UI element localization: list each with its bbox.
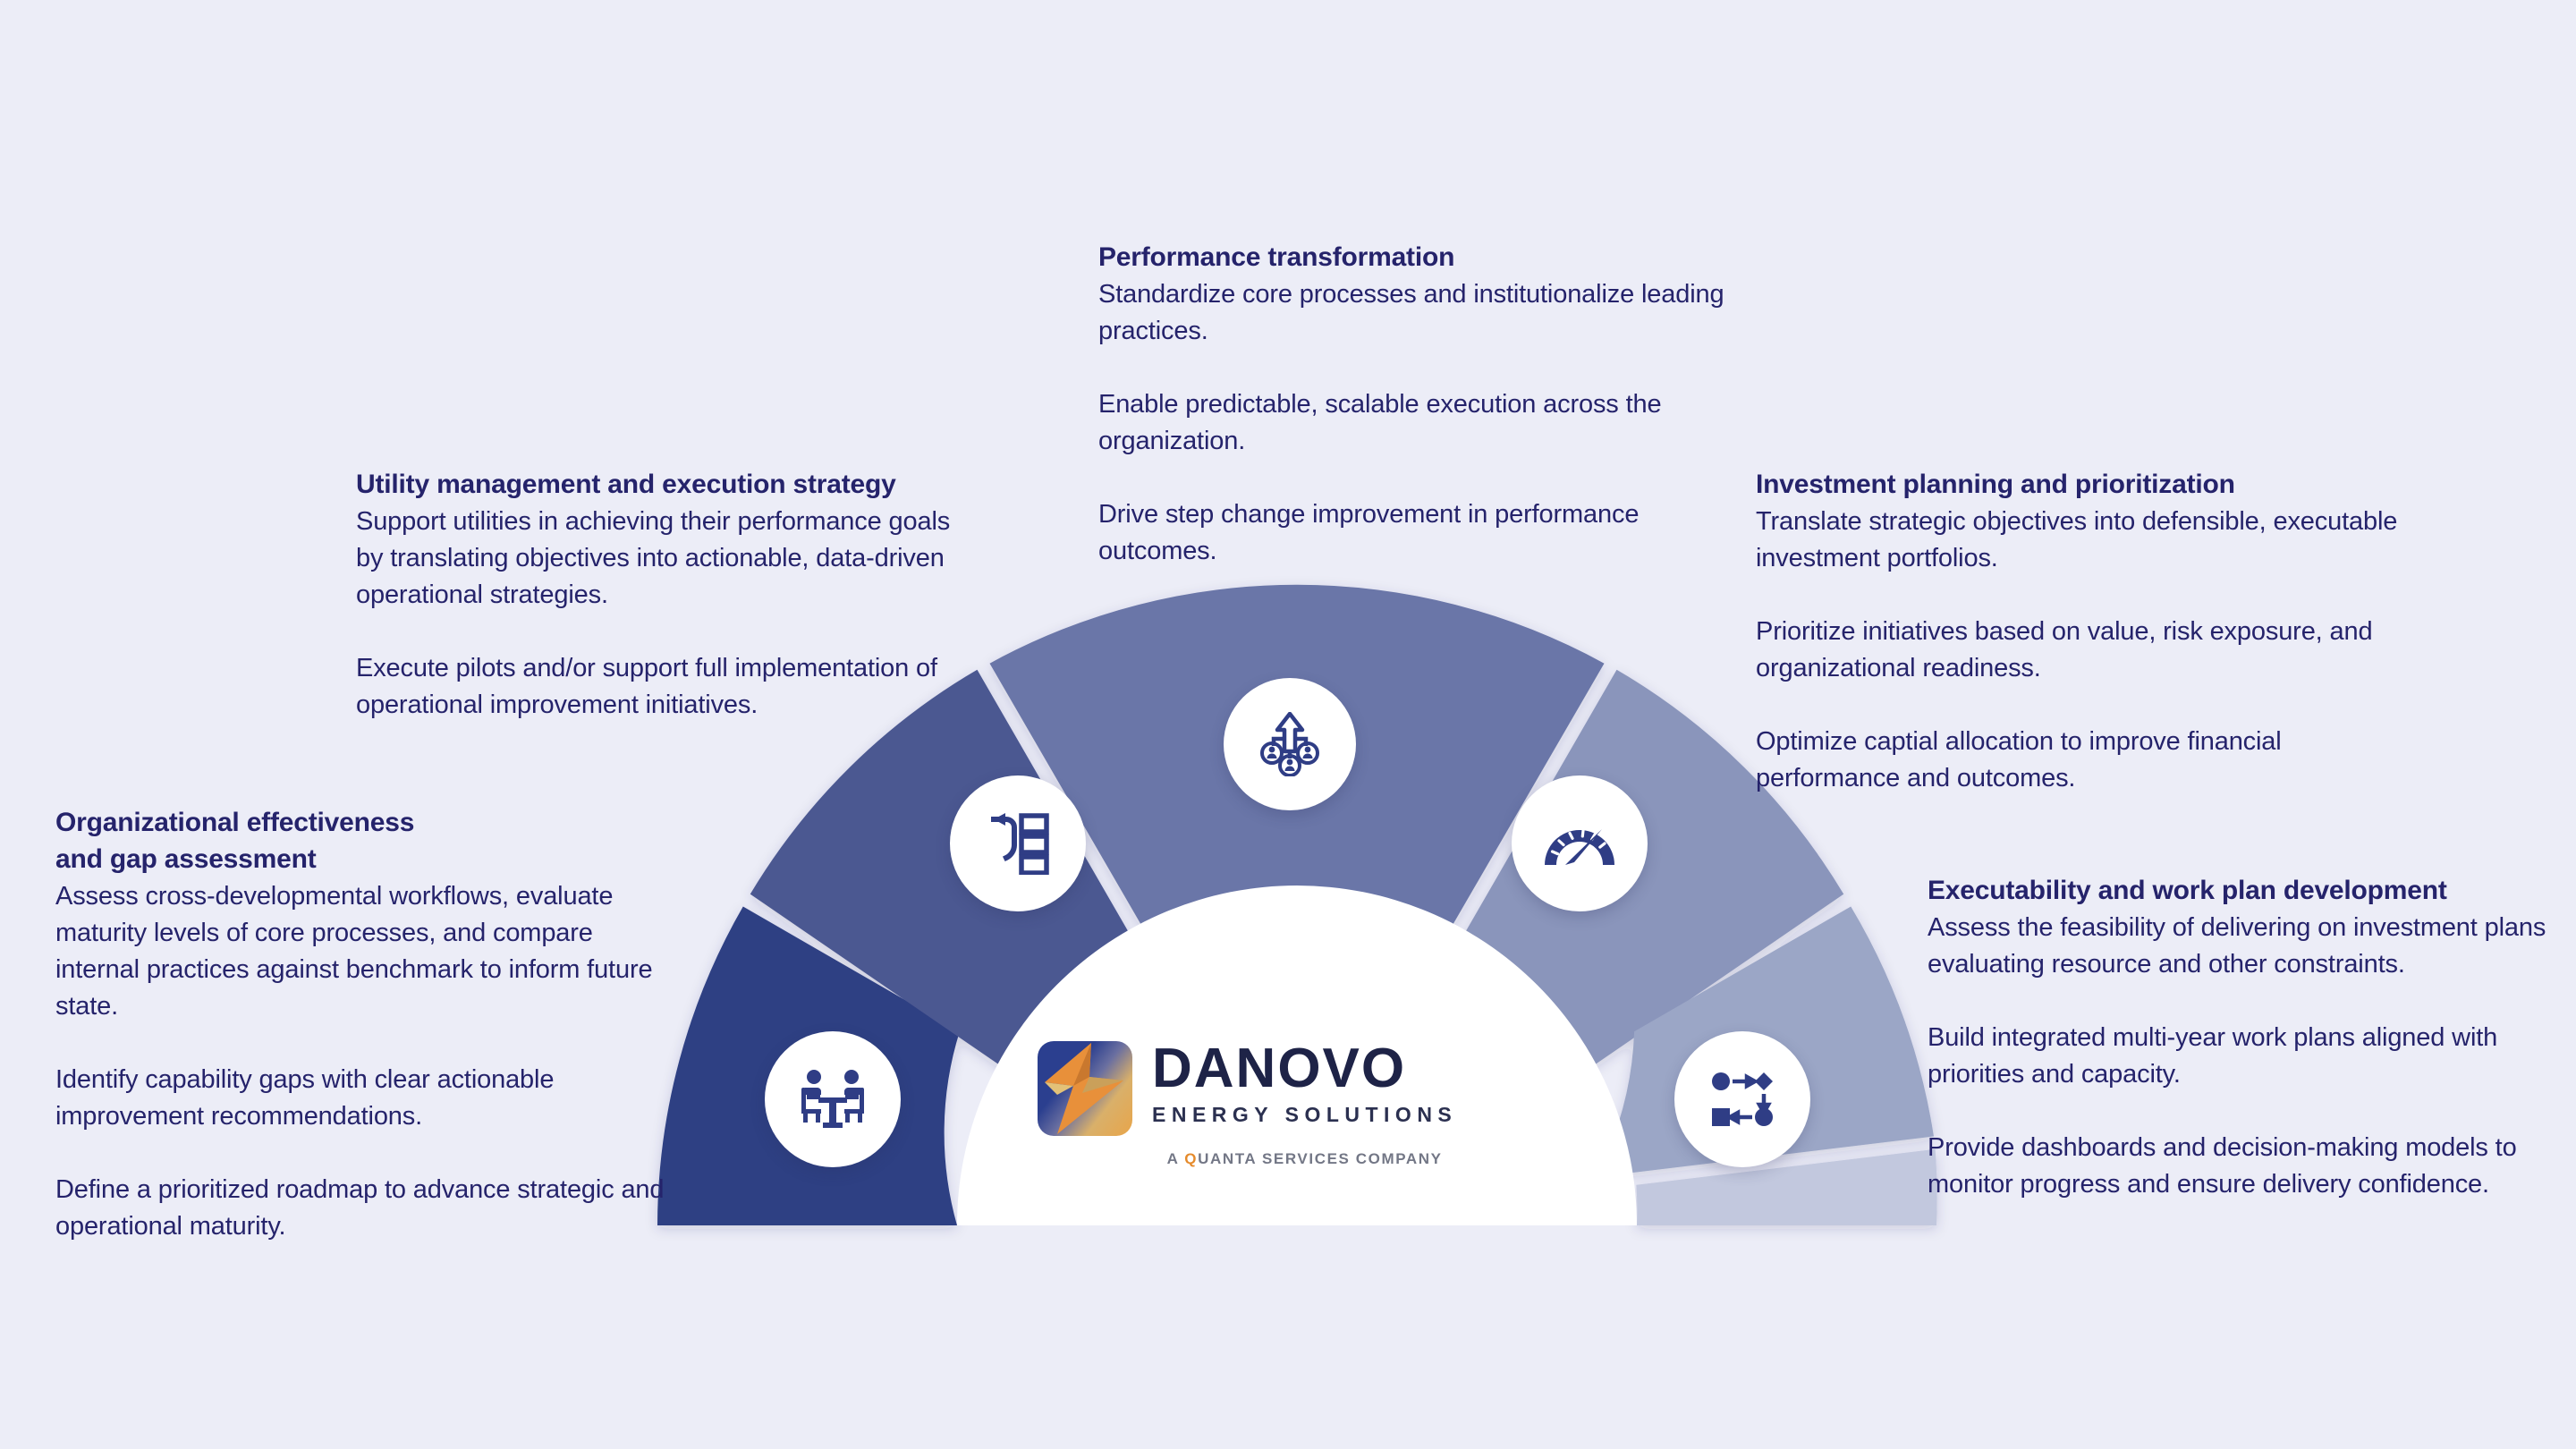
icon-bubble-investment-planning[interactable] [1512,775,1648,911]
paragraph: Identify capability gaps with clear acti… [55,1062,682,1135]
speedometer-gauge-icon [1543,818,1616,869]
icon-bubble-organizational-effectiveness[interactable] [765,1031,901,1167]
people-at-table-icon [798,1068,868,1131]
paragraph: Assess cross-developmental workflows, ev… [55,878,682,1025]
paragraph: Assess the feasibility of delivering on … [1928,910,2554,983]
paragraph: Provide dashboards and decision-making m… [1928,1130,2554,1203]
text-block-utility-management: Utility management and execution strateg… [356,467,973,724]
paragraph: Translate strategic objectives into defe… [1756,504,2400,577]
danovo-bolt-mark-icon [1038,1041,1132,1136]
icon-bubble-performance-transformation[interactable] [1224,678,1356,810]
logo-tagline-rest: UANTA SERVICES COMPANY [1198,1150,1443,1167]
paragraph: Define a prioritized roadmap to advance … [55,1172,682,1245]
text-block-organizational-effectiveness: Organizational effectiveness and gap ass… [55,805,682,1245]
paragraph: Prioritize initiatives based on value, r… [1756,614,2400,687]
people-growth-arrow-icon [1258,712,1322,776]
logo-tagline-q: Q [1184,1150,1198,1167]
heading-utility-management: Utility management and execution strateg… [356,467,973,503]
logo-subtitle: ENERGY SOLUTIONS [1152,1103,1457,1127]
text-block-investment-planning: Investment planning and prioritization T… [1756,467,2400,797]
logo-tagline: A QUANTA SERVICES COMPANY [1152,1150,1457,1168]
process-list-arrow-icon [986,812,1050,875]
logo-tagline-prefix: A [1167,1150,1185,1167]
heading-performance-transformation: Performance transformation [1098,240,1724,275]
danovo-logo: DANOVO ENERGY SOLUTIONS A QUANTA SERVICE… [1038,1036,1503,1197]
paragraph: Standardize core processes and instituti… [1098,276,1724,350]
text-block-performance-transformation: Performance transformation Standardize c… [1098,240,1724,570]
text-block-executability: Executability and work plan development … [1928,873,2554,1203]
icon-bubble-executability[interactable] [1674,1031,1810,1167]
workflow-diagram-icon [1711,1072,1774,1127]
paragraph: Optimize captial allocation to improve f… [1756,724,2400,797]
heading-executability: Executability and work plan development [1928,873,2554,909]
paragraph: Execute pilots and/or support full imple… [356,650,973,724]
icon-bubble-utility-management[interactable] [950,775,1086,911]
paragraph: Enable predictable, scalable execution a… [1098,386,1724,460]
paragraph: Build integrated multi-year work plans a… [1928,1020,2554,1093]
heading-organizational-effectiveness-line-1: Organizational effectiveness [55,805,682,841]
logo-wordmark: DANOVO [1152,1041,1457,1097]
heading-investment-planning: Investment planning and prioritization [1756,467,2400,503]
infographic-canvas: DANOVO ENERGY SOLUTIONS A QUANTA SERVICE… [0,0,2576,1449]
paragraph: Drive step change improvement in perform… [1098,496,1724,570]
paragraph: Support utilities in achieving their per… [356,504,973,614]
heading-organizational-effectiveness-line-2: and gap assessment [55,842,682,877]
